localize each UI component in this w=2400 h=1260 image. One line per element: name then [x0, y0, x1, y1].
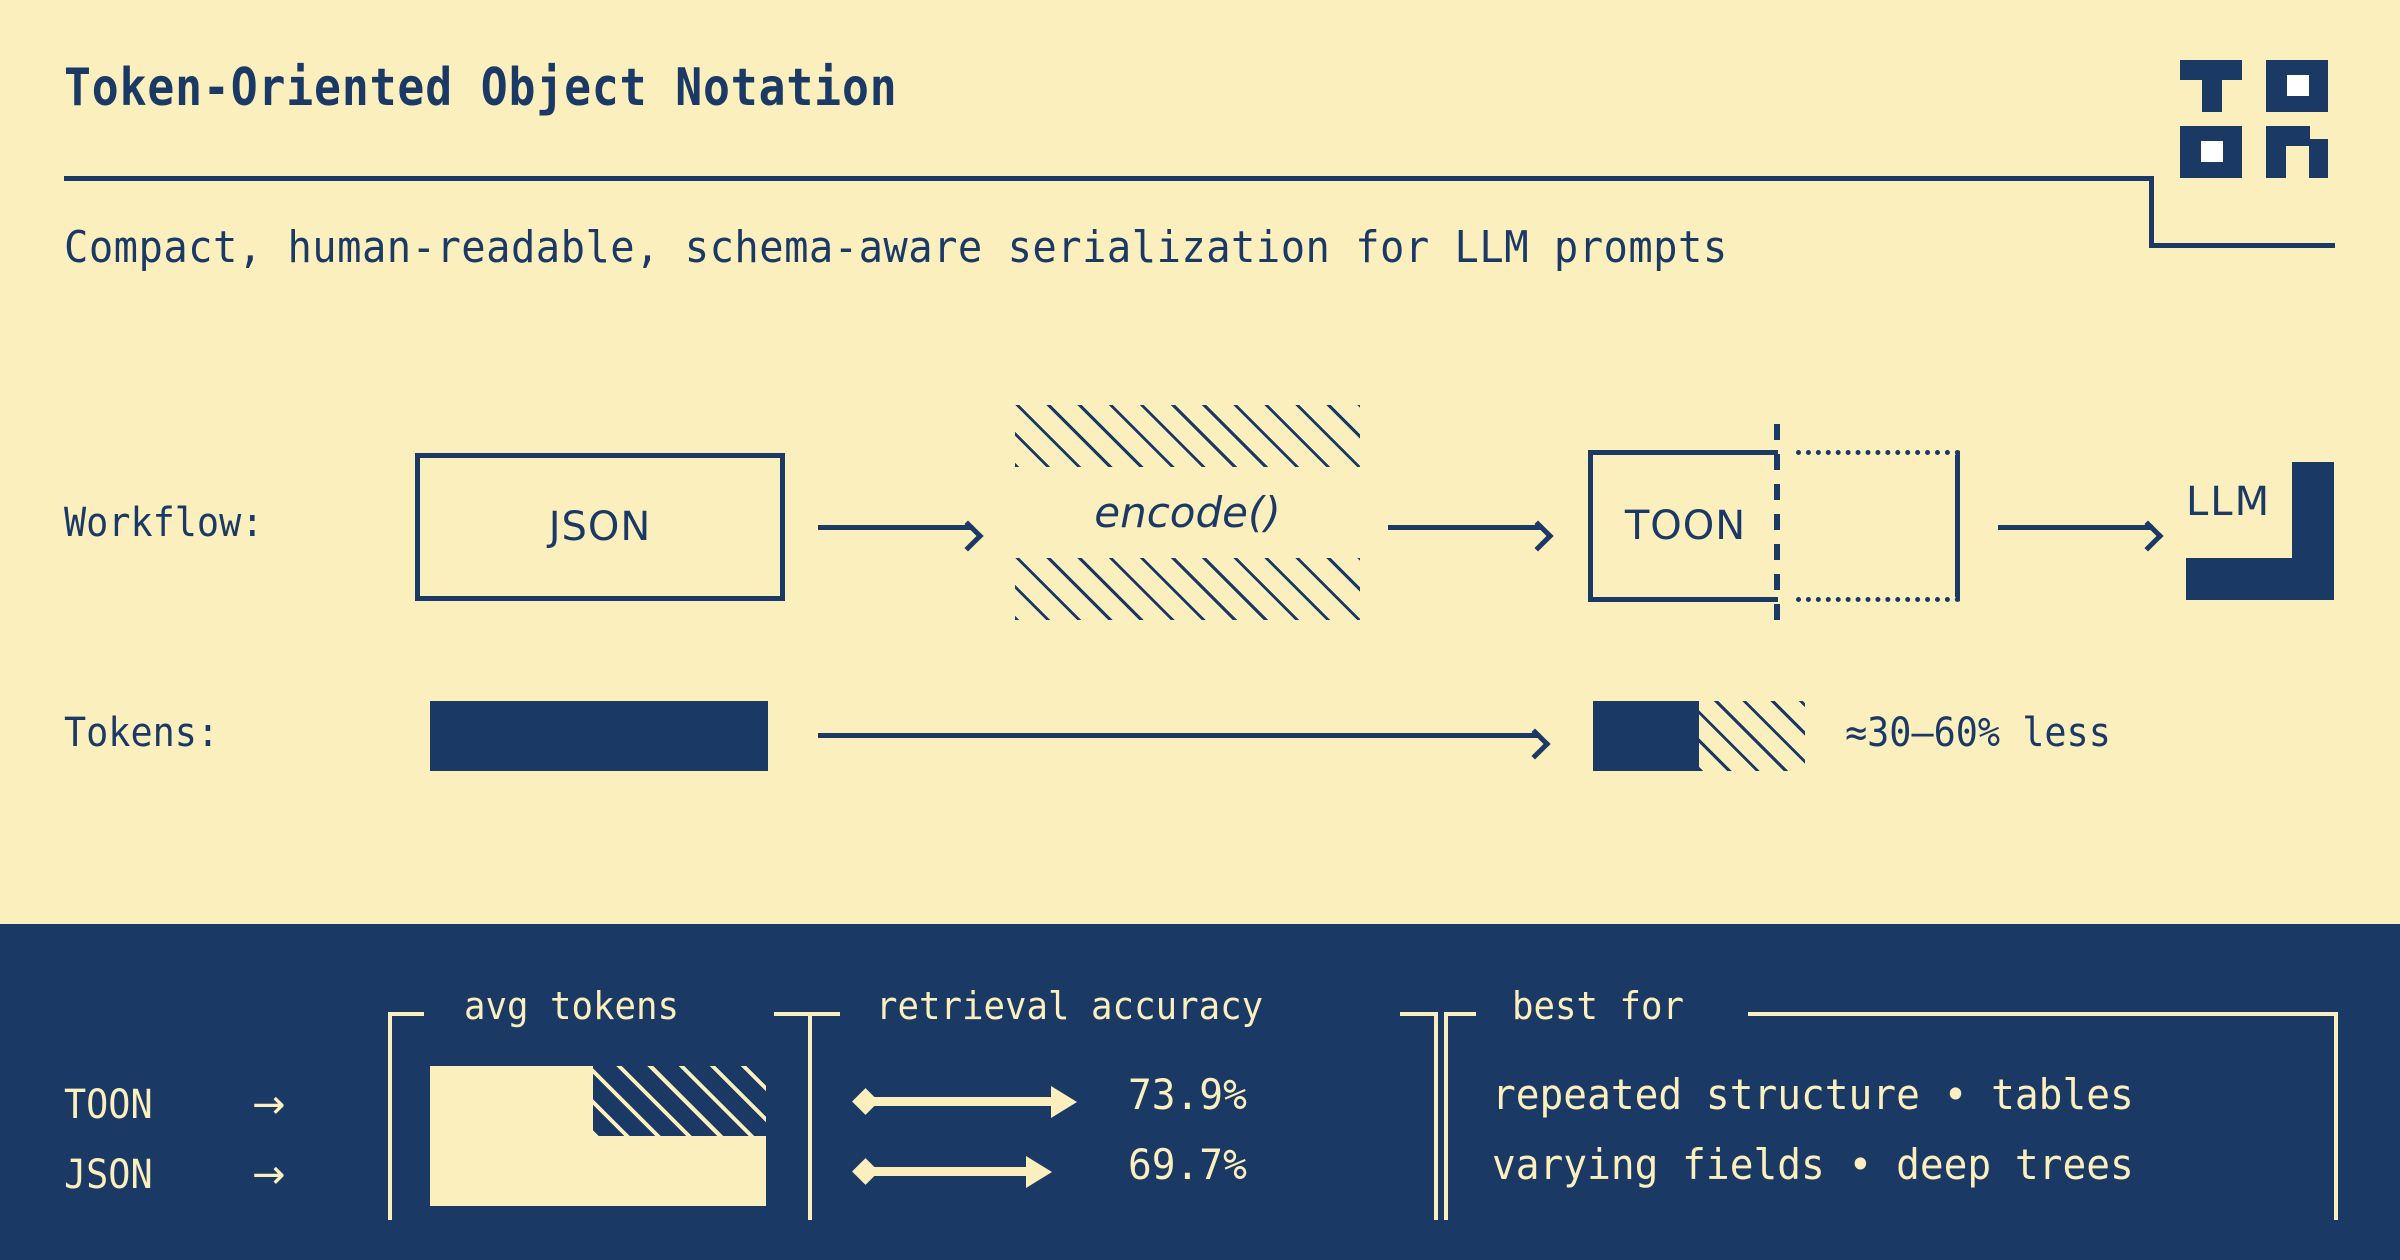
workflow-step-llm-label: LLM	[2186, 479, 2271, 525]
header-divider-horizontal-lower	[2149, 243, 2335, 248]
tokens-bar-toon-saved-part	[1699, 701, 1805, 771]
workflow-step-encode: encode()	[1015, 405, 1360, 620]
workflow-row-label: Workflow:	[64, 500, 263, 546]
group-best-for-frame-top-right	[1748, 1012, 2338, 1016]
encode-hatch-band-bottom	[1015, 558, 1360, 620]
logo-letter-n-icon	[2266, 126, 2328, 178]
workflow-step-toon-dotted-half	[1796, 450, 1960, 602]
toon-logo	[2180, 60, 2328, 178]
logo-letter-n-top-bar	[2266, 126, 2310, 146]
llm-bracket-bottom	[2186, 558, 2334, 600]
retrieval-accuracy-value-json: 69.7%	[1128, 1140, 1247, 1189]
group-retrieval-accuracy: retrieval accuracy 73.9% 69.7%	[808, 1012, 1438, 1220]
page-title: Token-Oriented Object Notation	[64, 58, 898, 118]
retrieval-arrow-line	[866, 1097, 1056, 1106]
group-best-for: best for repeated structure • tables var…	[1444, 1012, 2338, 1220]
tokens-row-label: Tokens:	[64, 710, 219, 756]
workflow-step-toon: TOON	[1588, 450, 1960, 602]
workflow-step-toon-label: TOON	[1625, 503, 1746, 549]
logo-letter-t-icon	[2180, 60, 2242, 112]
group-avg-tokens-frame-left	[388, 1012, 392, 1220]
logo-letter-t-bar	[2180, 60, 2242, 80]
logo-letter-o-second-icon	[2180, 126, 2242, 178]
tokens-reduction-arrow-line	[818, 733, 1540, 738]
workflow-arrow-1-line	[818, 525, 973, 530]
tokens-bar-toon	[1593, 701, 1805, 771]
encode-hatch-band-top	[1015, 405, 1360, 467]
group-retrieval-label: retrieval accuracy	[876, 984, 1263, 1028]
group-best-for-frame-top-left	[1444, 1012, 1476, 1016]
workflow-arrow-3-line	[1998, 525, 2153, 530]
comparison-row-label-toon: TOON	[64, 1082, 153, 1128]
group-avg-tokens: avg tokens	[388, 1012, 812, 1220]
comparison-panel: TOON → JSON → avg tokens retrieval accur…	[0, 924, 2400, 1260]
best-for-line-toon: repeated structure • tables	[1492, 1070, 2134, 1119]
logo-letter-t-stem	[2202, 78, 2222, 112]
tokens-savings-text: ≈30–60% less	[1845, 710, 2111, 756]
workflow-step-toon-solid-half: TOON	[1588, 450, 1778, 602]
retrieval-accuracy-row-json: 69.7%	[808, 1136, 1438, 1206]
workflow-step-json-label: JSON	[549, 504, 652, 550]
avg-tokens-bar-toon-solid-part	[430, 1066, 593, 1136]
comparison-row-label-json: JSON	[64, 1152, 153, 1198]
avg-tokens-bar-toon-saved-part	[593, 1066, 766, 1136]
workflow-step-llm: LLM	[2186, 455, 2334, 600]
hero-section: Token-Oriented Object Notation Compact, …	[0, 0, 2400, 924]
comparison-row-arrow-json-icon: →	[252, 1152, 286, 1198]
group-retrieval-frame-top-left	[808, 1012, 840, 1016]
tokens-bar-json	[430, 701, 768, 771]
retrieval-accuracy-value-toon: 73.9%	[1128, 1070, 1247, 1119]
header-divider-vertical	[2149, 176, 2154, 248]
group-avg-tokens-frame-top-right	[774, 1012, 812, 1016]
workflow-step-json: JSON	[415, 453, 785, 601]
avg-tokens-bar-json	[430, 1136, 766, 1206]
logo-letter-o-first-icon	[2266, 60, 2328, 112]
retrieval-accuracy-row-toon: 73.9%	[808, 1066, 1438, 1136]
group-best-for-label: best for	[1512, 984, 1684, 1028]
retrieval-arrow-head-icon	[1051, 1086, 1077, 1118]
logo-letter-o-second-hole	[2201, 141, 2223, 162]
retrieval-arrow-head-icon	[1026, 1156, 1052, 1188]
logo-letter-o-first-hole	[2287, 75, 2309, 96]
best-for-line-json: varying fields • deep trees	[1492, 1140, 2134, 1189]
group-best-for-frame-right	[2334, 1012, 2338, 1220]
comparison-row-arrow-toon-icon: →	[252, 1082, 286, 1128]
group-retrieval-frame-top-right	[1400, 1012, 1438, 1016]
retrieval-arrow-line	[866, 1167, 1031, 1176]
tokens-bar-toon-solid-part	[1593, 701, 1699, 771]
logo-letter-n-right-stem	[2309, 139, 2328, 178]
group-best-for-frame-left	[1444, 1012, 1448, 1220]
page-subtitle: Compact, human-readable, schema-aware se…	[64, 222, 1728, 273]
group-avg-tokens-label: avg tokens	[464, 984, 679, 1028]
group-avg-tokens-frame-top-left	[388, 1012, 424, 1016]
workflow-step-toon-dashed-divider	[1774, 424, 1780, 630]
header-divider-horizontal	[64, 176, 2154, 181]
llm-bracket-right	[2292, 462, 2334, 562]
avg-tokens-bar-toon	[430, 1066, 766, 1136]
workflow-arrow-2-line	[1388, 525, 1543, 530]
workflow-step-encode-label: encode()	[1015, 475, 1360, 549]
